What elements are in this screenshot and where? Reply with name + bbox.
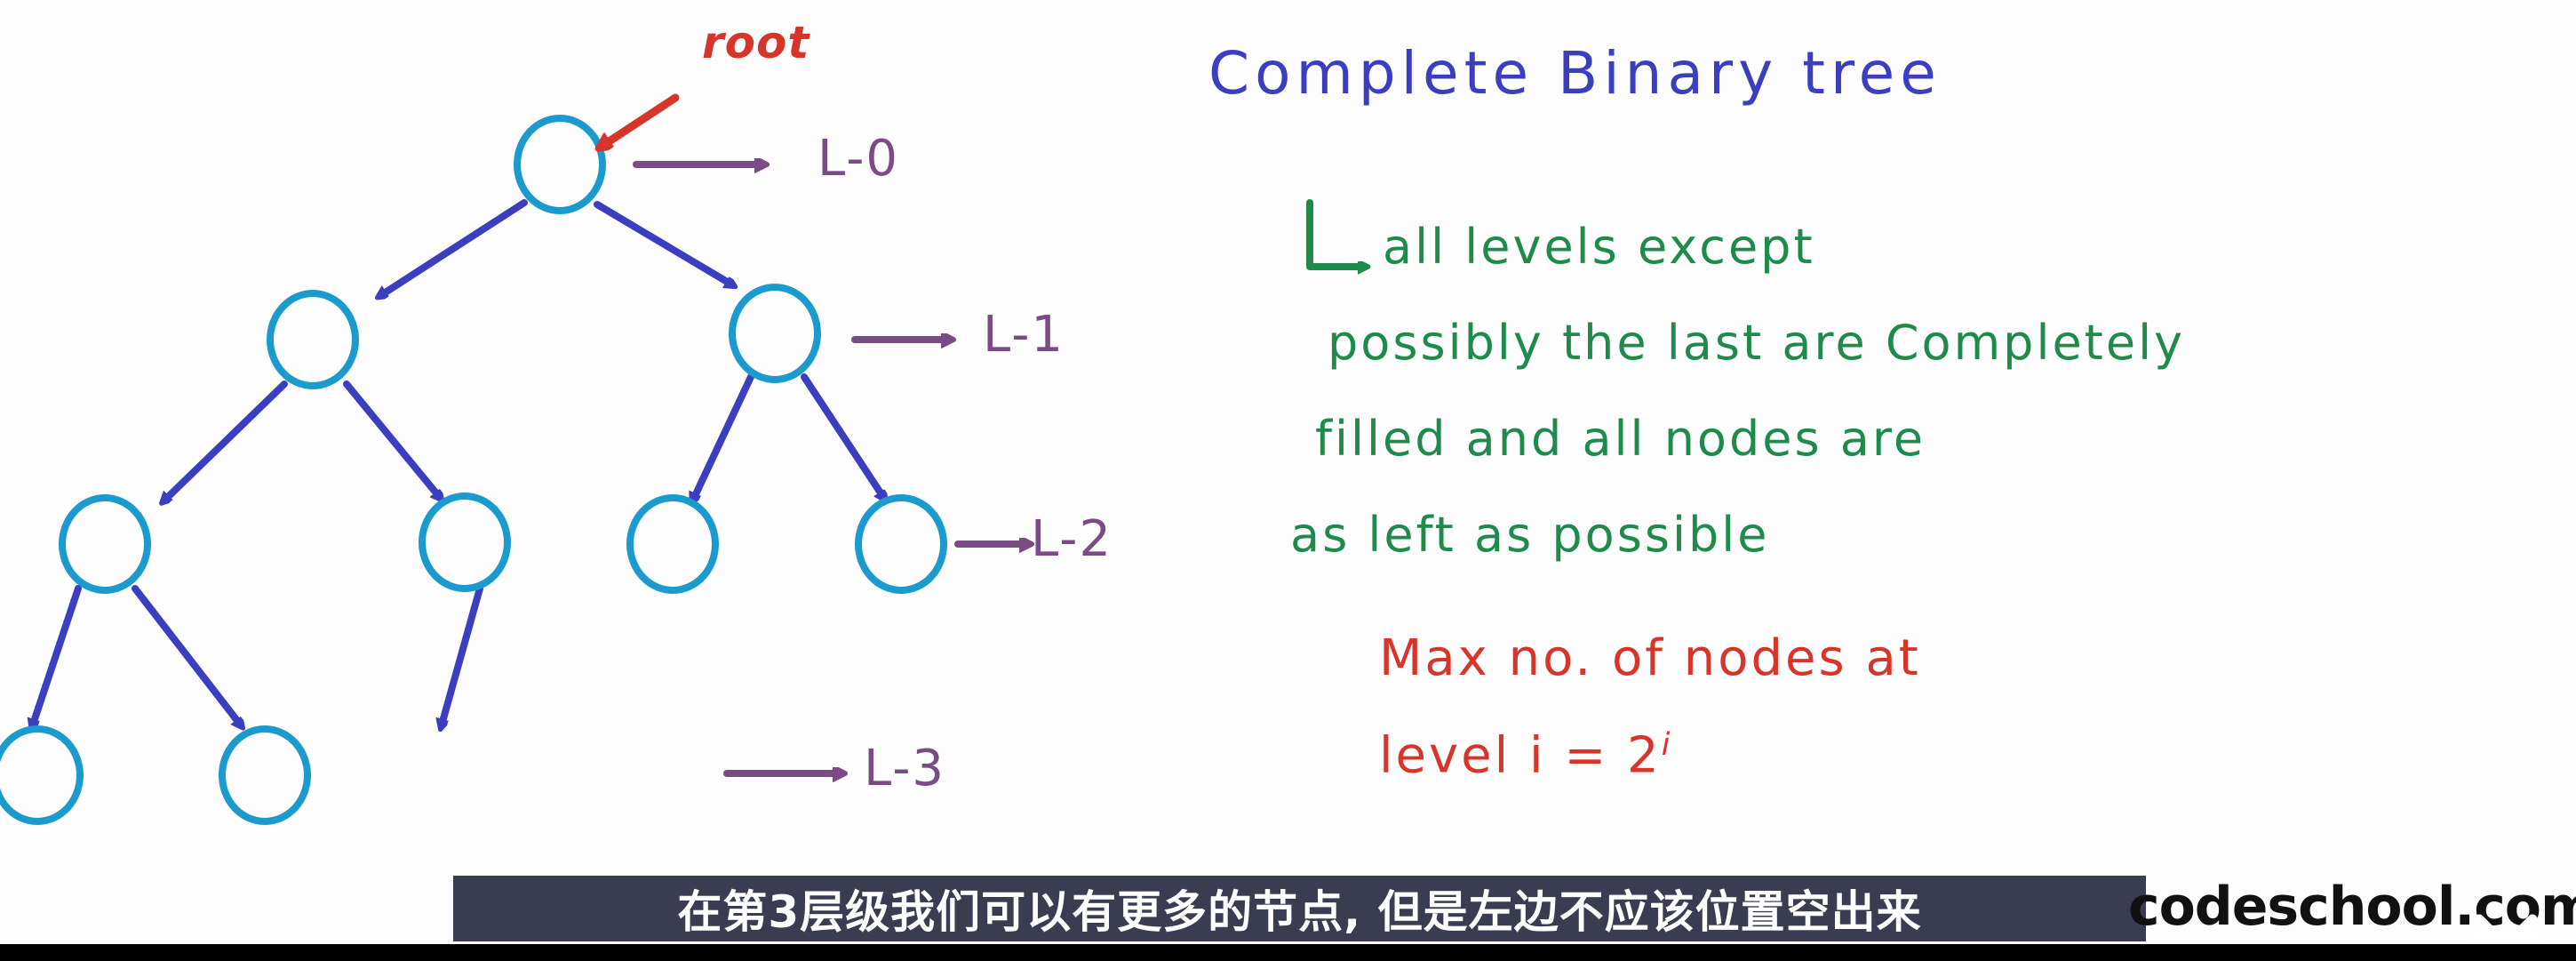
tree-node-l1-left[interactable] (270, 293, 355, 386)
tree-node-l2-3[interactable] (630, 498, 715, 590)
edge-n3-n8 (135, 589, 238, 722)
formula-exponent: i (1662, 727, 1673, 763)
tree-diagram-layer (0, 0, 2576, 961)
note-line-4: as left as possible (1290, 510, 1770, 561)
level-pointer-arrows (636, 164, 1022, 773)
note-line-1: all levels except (1383, 222, 1815, 273)
note-line-3: filled and all nodes are (1315, 414, 1926, 465)
tree-node-l3-1[interactable] (0, 729, 80, 821)
edge-n3-n7 (34, 589, 78, 722)
level-label-l1: L-1 (983, 309, 1065, 362)
level-label-l3: L-3 (864, 743, 945, 796)
level-label-l0: L-0 (817, 133, 899, 186)
root-label: root (702, 20, 809, 67)
edge-n0-n2 (597, 204, 729, 283)
tree-node-l2-1[interactable] (62, 498, 148, 590)
edge-n1-n4 (347, 384, 437, 494)
note-bullet-arrow (1310, 203, 1360, 267)
edge-n2-n6 (804, 377, 881, 494)
tree-node-l3-2[interactable] (222, 729, 307, 821)
tree-edges (34, 203, 881, 722)
note-line-2: possibly the last are Completely (1328, 318, 2185, 369)
subtitle-text: 在第3层级我们可以有更多的节点, 但是左边不应该位置空出来 (677, 877, 1921, 941)
tree-nodes (0, 118, 944, 821)
edge-n4-dangling (443, 589, 480, 722)
formula-line-2: level i = 2i (1379, 729, 1672, 782)
tree-node-l2-2[interactable] (422, 496, 507, 589)
edge-n0-n1 (384, 203, 524, 293)
formula-line-1: Max no. of nodes at (1379, 633, 1921, 685)
edge-n1-n3 (167, 384, 284, 498)
root-pointer-arrow (608, 98, 675, 142)
formula-base: level i = 2 (1379, 727, 1662, 785)
diagram-title: Complete Binary tree (1208, 43, 1942, 104)
bottom-letterbox-strip (0, 944, 2576, 961)
tree-node-l1-right[interactable] (732, 287, 817, 380)
level-label-l2: L-2 (1031, 514, 1113, 566)
subtitle-bar: 在第3层级我们可以有更多的节点, 但是左边不应该位置空出来 (453, 876, 2146, 941)
whiteboard-screenshot: root L-0 L-1 L-2 L-3 Complete Binary tre… (0, 0, 2576, 961)
tree-node-root[interactable] (517, 118, 602, 211)
edge-n2-n5 (695, 377, 751, 496)
tree-node-l2-4[interactable] (858, 498, 944, 590)
